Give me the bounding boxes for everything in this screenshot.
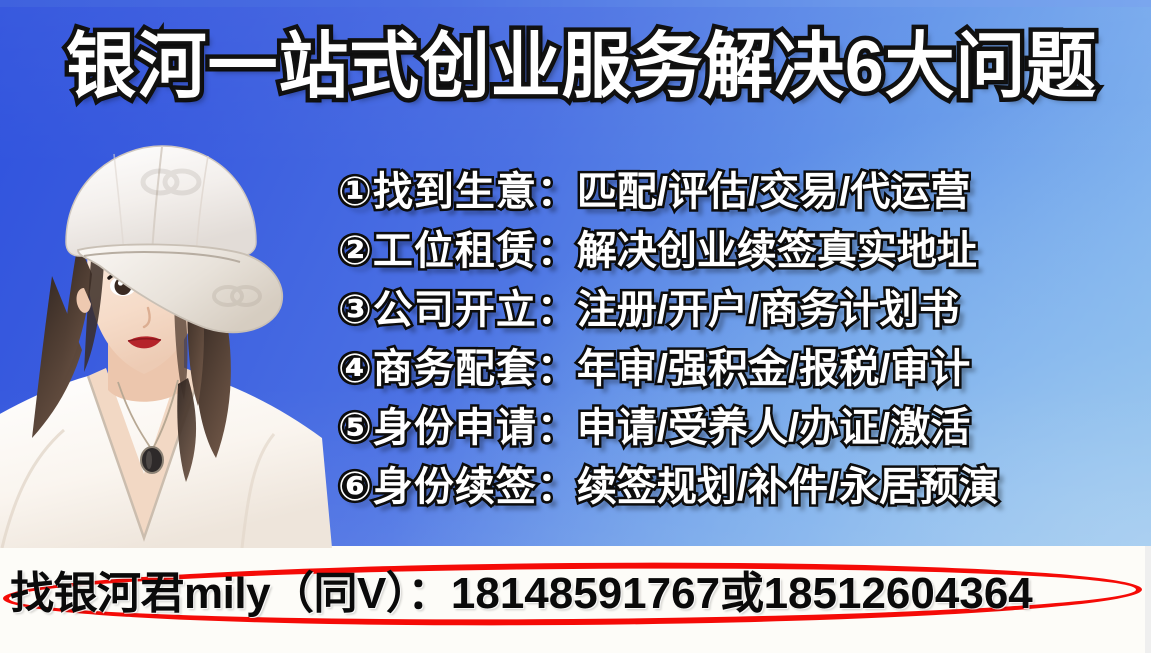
contact-line: 找银河君mily（同V）：18148591767或18512604364 [10,566,1150,622]
list-item: ④商务配套：年审/强积金/报税/审计 [338,340,1138,399]
list-item-colon: ： [537,465,577,509]
list-item-label: 商务配套 [373,347,537,391]
contact-separator: 或 [720,569,764,618]
list-item-number: ③ [338,288,372,332]
list-item: ⑥身份续签：续签规划/补件/永居预演 [338,458,1138,517]
list-item-detail: 申请/受养人/办证/激活 [577,406,970,450]
list-item-colon: ： [537,229,577,273]
top-accent-strip [0,0,1151,7]
list-item-number: ⑤ [338,406,372,450]
list-item-number: ⑥ [338,465,372,509]
list-item-colon: ： [537,406,577,450]
list-item: ⑤身份申请：申请/受养人/办证/激活 [338,399,1138,458]
contact-prefix: 找银河君mily（同V）： [10,569,451,618]
list-item: ②工位租赁：解决创业续签真实地址 [338,222,1138,281]
poster-root: 银河一站式创业服务解决6大问题 [0,0,1151,653]
list-item-label: 身份申请 [373,406,537,450]
list-item-colon: ： [537,288,577,332]
list-item-number: ④ [338,347,372,391]
list-item-label: 公司开立 [373,288,537,332]
page-title: 银河一站式创业服务解决6大问题 [66,30,1075,106]
contact-phone-primary: 18148591767 [451,569,720,618]
list-item-detail: 解决创业续签真实地址 [577,229,977,273]
list-item-detail: 注册/开户/商务计划书 [577,288,959,332]
list-item-detail: 年审/强积金/报税/审计 [577,347,970,391]
list-item: ③公司开立：注册/开户/商务计划书 [338,281,1138,340]
list-item-colon: ： [537,170,577,214]
list-item-label: 身份续签 [373,465,537,509]
list-item-colon: ： [537,347,577,391]
list-item-number: ② [338,229,372,273]
list-item-detail: 匹配/评估/交易/代运营 [577,170,970,214]
list-item-label: 工位租赁 [373,229,537,273]
benefits-list: ①找到生意：匹配/评估/交易/代运营 ②工位租赁：解决创业续签真实地址 ③公司开… [338,163,1138,517]
list-item: ①找到生意：匹配/评估/交易/代运营 [338,163,1138,222]
contact-phone-secondary: 18512604364 [764,569,1033,618]
list-item-number: ① [338,170,372,214]
list-item-label: 找到生意 [373,170,537,214]
list-item-detail: 续签规划/补件/永居预演 [577,465,999,509]
woman-illustration [0,138,342,548]
